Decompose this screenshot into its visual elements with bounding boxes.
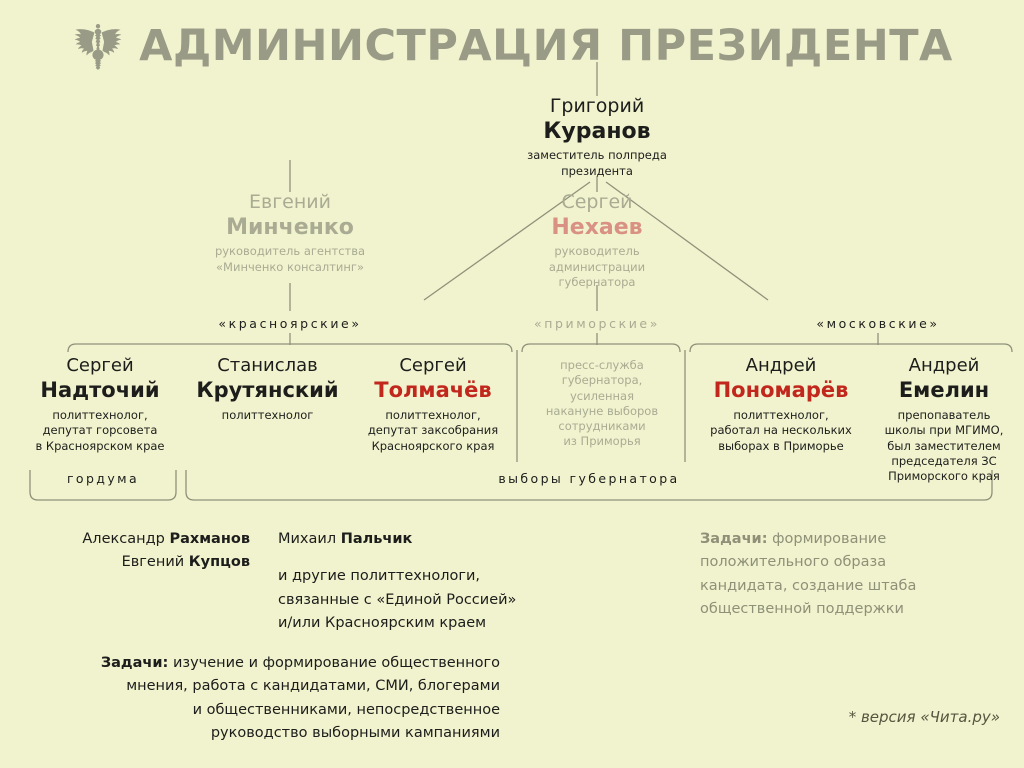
page-title: АДМИНИСТРАЦИЯ ПРЕЗИДЕНТА [139, 25, 953, 68]
node-nekhaev-role: руководитель администрации губернатора [497, 244, 697, 290]
card-ponomarev[interactable]: Андрей Пономарёв политтехнолог, работал … [690, 356, 872, 454]
bottom-name-kupcov-first: Евгений [122, 554, 189, 570]
bottom-middle-text: и другие политтехнологи, связанные с «Ед… [278, 565, 608, 635]
card-tolmachev-first: Сергей [352, 356, 514, 377]
bottom-name-rahmanov: Александр Рахманов [30, 528, 250, 551]
card-ponomarev-last: Пономарёв [690, 377, 872, 404]
node-minchenko[interactable]: Евгений Минченко руководитель агентства … [180, 192, 400, 275]
bottom-tasks-label: Задачи: [101, 655, 169, 671]
card-tolmachev-last: Толмачёв [352, 377, 514, 404]
bracket-label-gorduma: гордума [30, 471, 176, 486]
card-tolmachev[interactable]: Сергей Толмачёв политтехнолог, депутат з… [352, 356, 514, 454]
group-label-primorskie: «приморские» [507, 316, 687, 331]
bottom-name-palchik-first: Михаил [278, 531, 341, 547]
card-press-service[interactable]: пресс-служба губернатора, усиленная нака… [523, 358, 681, 450]
infographic-canvas: АДМИНИСТРАЦИЯ ПРЕЗИДЕНТА Григорий Курано… [0, 0, 1024, 768]
group-label-krasnoyarskie: «красноярские» [190, 316, 390, 331]
bottom-name-palchik: Михаил Пальчик [278, 528, 608, 551]
card-nadtochiy-last: Надточий [20, 377, 180, 404]
bottom-tasks-text: изучение и формирование общественного мн… [126, 655, 500, 741]
node-kuranov-last: Куранов [477, 118, 717, 146]
bottom-middle-block: Михаил Пальчик и другие политтехнологи, … [278, 528, 608, 636]
node-kuranov-first: Григорий [477, 96, 717, 118]
card-emelin-last: Емелин [874, 377, 1014, 404]
footer-note: * версия «Чита.ру» [700, 708, 1000, 726]
bottom-left-names: Александр Рахманов Евгений Купцов [30, 528, 250, 575]
card-nadtochiy-desc: политтехнолог, депутат горсовета в Красн… [20, 408, 180, 454]
card-krutyanskiy[interactable]: Станислав Крутянский политтехнолог [185, 356, 350, 423]
card-emelin-first: Андрей [874, 356, 1014, 377]
bottom-name-rahmanov-first: Александр [82, 531, 169, 547]
card-nadtochiy[interactable]: Сергей Надточий политтехнолог, депутат г… [20, 356, 180, 454]
node-nekhaev-last: Нехаев [497, 214, 697, 242]
node-kuranov[interactable]: Григорий Куранов заместитель полпреда пр… [477, 96, 717, 179]
card-krutyanskiy-desc: политтехнолог [185, 408, 350, 423]
card-tolmachev-desc: политтехнолог, депутат заксобрания Красн… [352, 408, 514, 454]
card-krutyanskiy-last: Крутянский [185, 377, 350, 404]
card-emelin[interactable]: Андрей Емелин препопаватель школы при МГ… [874, 356, 1014, 484]
card-ponomarev-desc: политтехнолог, работал на нескольких выб… [690, 408, 872, 454]
card-ponomarev-first: Андрей [690, 356, 872, 377]
node-kuranov-role: заместитель полпреда президента [477, 148, 717, 178]
group-label-moskovskie: «московские» [788, 316, 968, 331]
card-nadtochiy-first: Сергей [20, 356, 180, 377]
bracket-label-vybory-gubernatora: выборы губернатора [186, 471, 992, 486]
bottom-name-palchik-last: Пальчик [341, 531, 413, 547]
node-minchenko-last: Минченко [180, 214, 400, 242]
node-nekhaev-first: Сергей [497, 192, 697, 214]
card-press-service-desc: пресс-служба губернатора, усиленная нака… [523, 358, 681, 450]
double-headed-eagle-emblem [71, 19, 125, 73]
bottom-right-tasks-label: Задачи: [700, 531, 768, 547]
bottom-name-rahmanov-last: Рахманов [169, 531, 250, 547]
bottom-right-tasks: Задачи: формирование положительного обра… [700, 528, 1010, 622]
page-header: АДМИНИСТРАЦИЯ ПРЕЗИДЕНТА [0, 8, 1024, 84]
node-minchenko-role: руководитель агентства «Минченко консалт… [180, 244, 400, 274]
bottom-tasks-block: Задачи: изучение и формирование обществе… [30, 652, 500, 746]
node-minchenko-first: Евгений [180, 192, 400, 214]
bottom-name-kupcov: Евгений Купцов [30, 551, 250, 574]
bottom-name-kupcov-last: Купцов [189, 554, 250, 570]
card-krutyanskiy-first: Станислав [185, 356, 350, 377]
node-nekhaev[interactable]: Сергей Нехаев руководитель администрации… [497, 192, 697, 290]
